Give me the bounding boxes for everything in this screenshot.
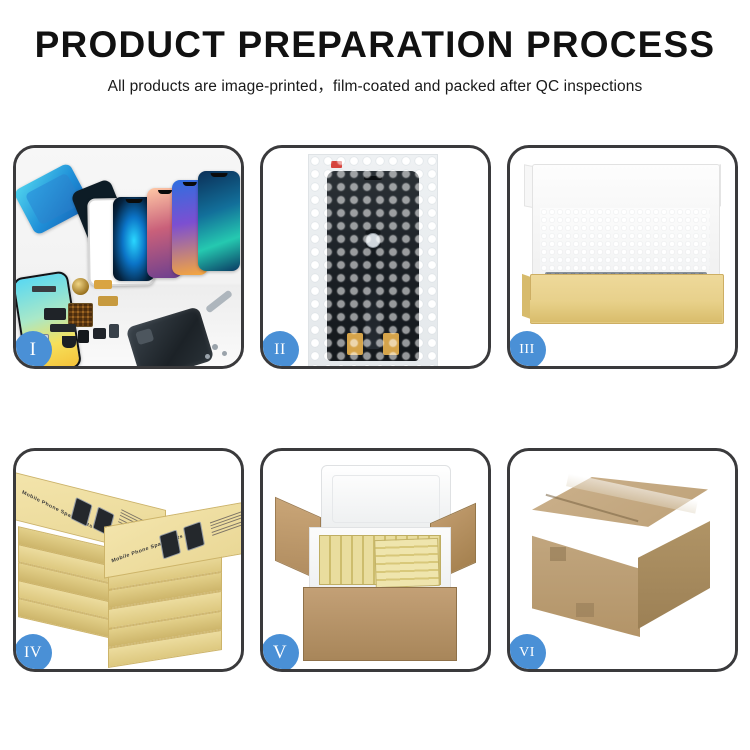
connector-3 (109, 324, 119, 338)
page-title: PRODUCT PREPARATION PROCESS (0, 26, 750, 65)
step-1-photo (16, 148, 241, 366)
page-subtitle: All products are image-printed，film-coat… (0, 74, 750, 96)
box-phone-graphic-b2 (183, 521, 205, 551)
carton-tab-1 (550, 547, 566, 561)
step-badge-5: V (261, 634, 299, 672)
step-2-photo (263, 148, 488, 366)
screw-2 (222, 351, 227, 356)
connector-2 (93, 328, 106, 339)
step-badge-4: IV (14, 634, 52, 672)
flex-cable-d (50, 324, 76, 332)
process-step-4: Mobile Phone Spare Parts Mobile Phone Sp… (13, 448, 244, 672)
step-badge-1: I (14, 331, 52, 369)
step-badge-6: VI (508, 634, 546, 672)
phone-screen-teal (198, 171, 240, 271)
step-3-photo (510, 148, 735, 366)
carton-front-face (532, 527, 640, 637)
vibration-motor (62, 336, 76, 348)
box-stack: Mobile Phone Spare Parts Mobile Phone Sp… (16, 465, 241, 667)
box-spec-lines-b (210, 509, 241, 538)
process-step-6: VI (507, 448, 738, 672)
step-5-photo (263, 451, 488, 669)
process-step-3: III (507, 145, 738, 369)
header: PRODUCT PREPARATION PROCESS All products… (0, 26, 750, 96)
screw-3 (205, 354, 210, 359)
notch (211, 173, 228, 177)
camera-module (72, 278, 89, 295)
step-6-photo (510, 451, 735, 669)
carton-body (303, 587, 457, 661)
flex-cable-a (44, 308, 66, 320)
process-step-1: I (13, 145, 244, 369)
infographic-page: PRODUCT PREPARATION PROCESS All products… (0, 0, 750, 750)
notch (126, 199, 143, 203)
process-step-grid: I II (13, 145, 737, 672)
speaker-mesh (32, 286, 56, 292)
process-step-5: V (260, 448, 491, 672)
bubble-film-overlay (309, 155, 437, 366)
screw-1 (212, 344, 218, 350)
process-step-2: II (260, 145, 491, 369)
flex-cable-b (94, 280, 112, 289)
carton-tab-2 (576, 603, 594, 617)
notch (158, 190, 172, 194)
packed-boxes-stack (374, 538, 440, 588)
bubble-wrap-bag (308, 154, 438, 366)
step-badge-2: II (261, 331, 299, 369)
connector-1 (78, 330, 89, 343)
box-tray-front (530, 300, 722, 322)
step-badge-3: III (508, 331, 546, 369)
step-4-photo: Mobile Phone Spare Parts Mobile Phone Sp… (16, 451, 241, 669)
carton-side-face (638, 521, 710, 629)
flex-cable-c (98, 296, 118, 306)
notch (183, 182, 197, 186)
